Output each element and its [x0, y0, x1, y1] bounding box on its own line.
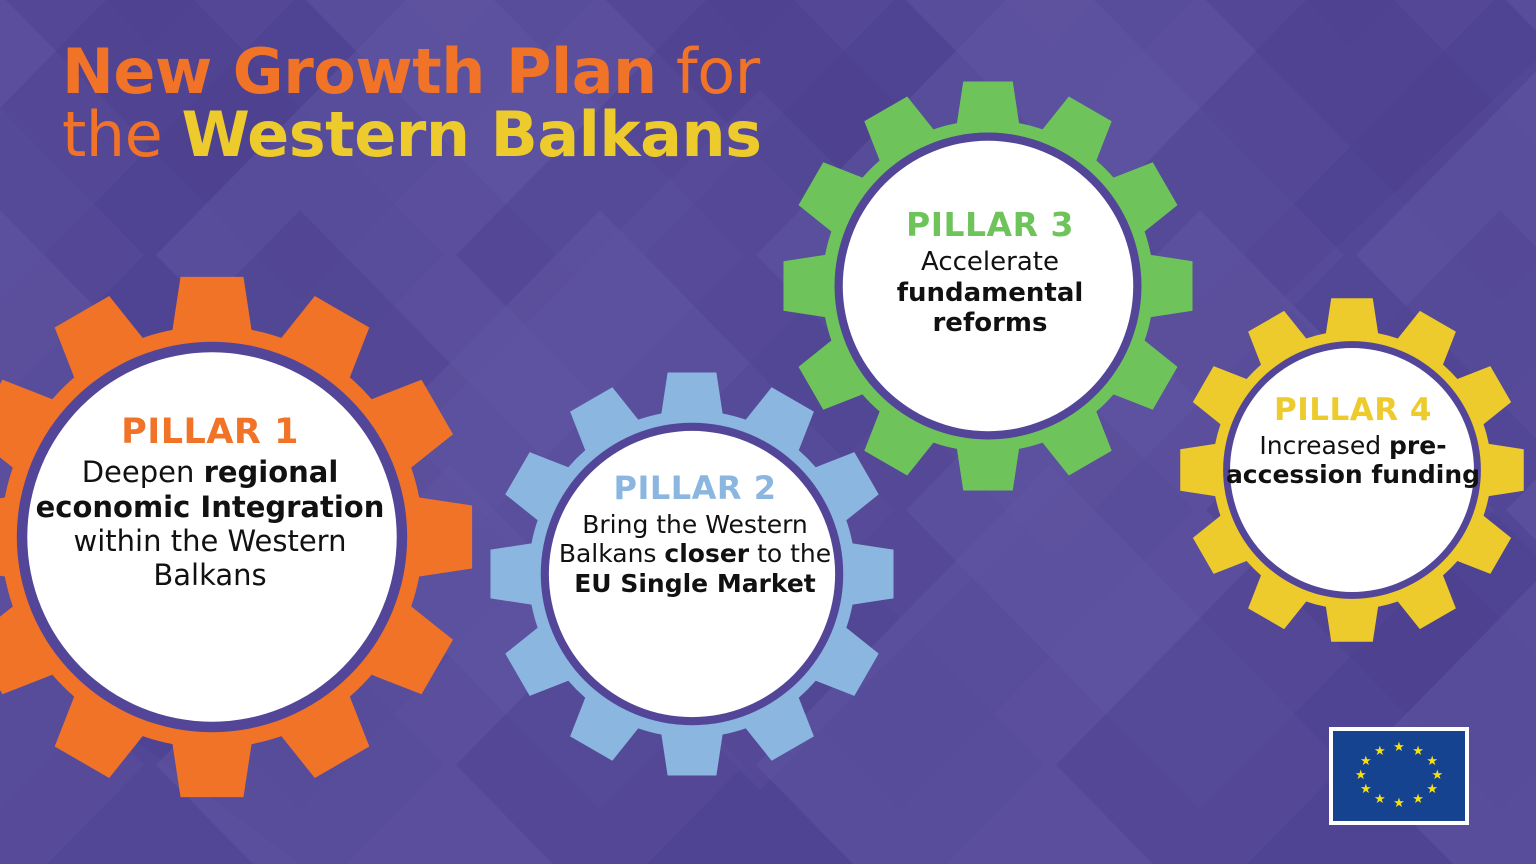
flag-star: ★: [1373, 793, 1387, 807]
pillar-4-body: Increased pre-accession funding: [1218, 431, 1488, 490]
flag-star: ★: [1411, 793, 1425, 807]
flag-star: ★: [1425, 755, 1439, 769]
title-regular-the: the: [62, 98, 181, 171]
pillar-1-label: PILLAR 1: [35, 412, 385, 453]
flag-field: ★★★★★★★★★★★★: [1333, 731, 1465, 821]
pillar-4-label: PILLAR 4: [1218, 392, 1488, 429]
flag-star: ★: [1392, 741, 1406, 755]
pillar-2-label: PILLAR 2: [545, 470, 845, 508]
pillar-1-text: PILLAR 1 Deepen regional economic Integr…: [35, 412, 385, 592]
title-line-2: the Western Balkans: [62, 103, 822, 166]
title-bold-yellow: Western Balkans: [181, 98, 761, 171]
title-bold-orange: New Growth Plan: [62, 35, 657, 108]
pillar-4-text: PILLAR 4 Increased pre-accession funding: [1218, 392, 1488, 490]
pillar-3-body: Accelerate fundamental reforms: [845, 247, 1135, 339]
pillar-3-label: PILLAR 3: [845, 206, 1135, 245]
flag-star: ★: [1359, 783, 1373, 797]
title-regular-orange: for: [657, 35, 760, 108]
flag-star: ★: [1425, 783, 1439, 797]
pillar-2-body: Bring the Western Balkans closer to the …: [545, 510, 845, 599]
pillar-3-text: PILLAR 3 Accelerate fundamental reforms: [845, 206, 1135, 339]
page-title: New Growth Plan for the Western Balkans: [62, 40, 822, 166]
flag-star: ★: [1430, 769, 1444, 783]
flag-star: ★: [1354, 769, 1368, 783]
european-union-flag-icon: ★★★★★★★★★★★★: [1329, 727, 1469, 825]
pillar-1-body: Deepen regional economic Integration wit…: [35, 455, 385, 592]
flag-star: ★: [1359, 755, 1373, 769]
infographic-canvas: New Growth Plan for the Western Balkans …: [0, 0, 1536, 864]
flag-star: ★: [1373, 745, 1387, 759]
flag-star: ★: [1411, 745, 1425, 759]
flag-star: ★: [1392, 797, 1406, 811]
pillar-2-text: PILLAR 2 Bring the Western Balkans close…: [545, 470, 845, 598]
title-line-1: New Growth Plan for: [62, 40, 822, 103]
